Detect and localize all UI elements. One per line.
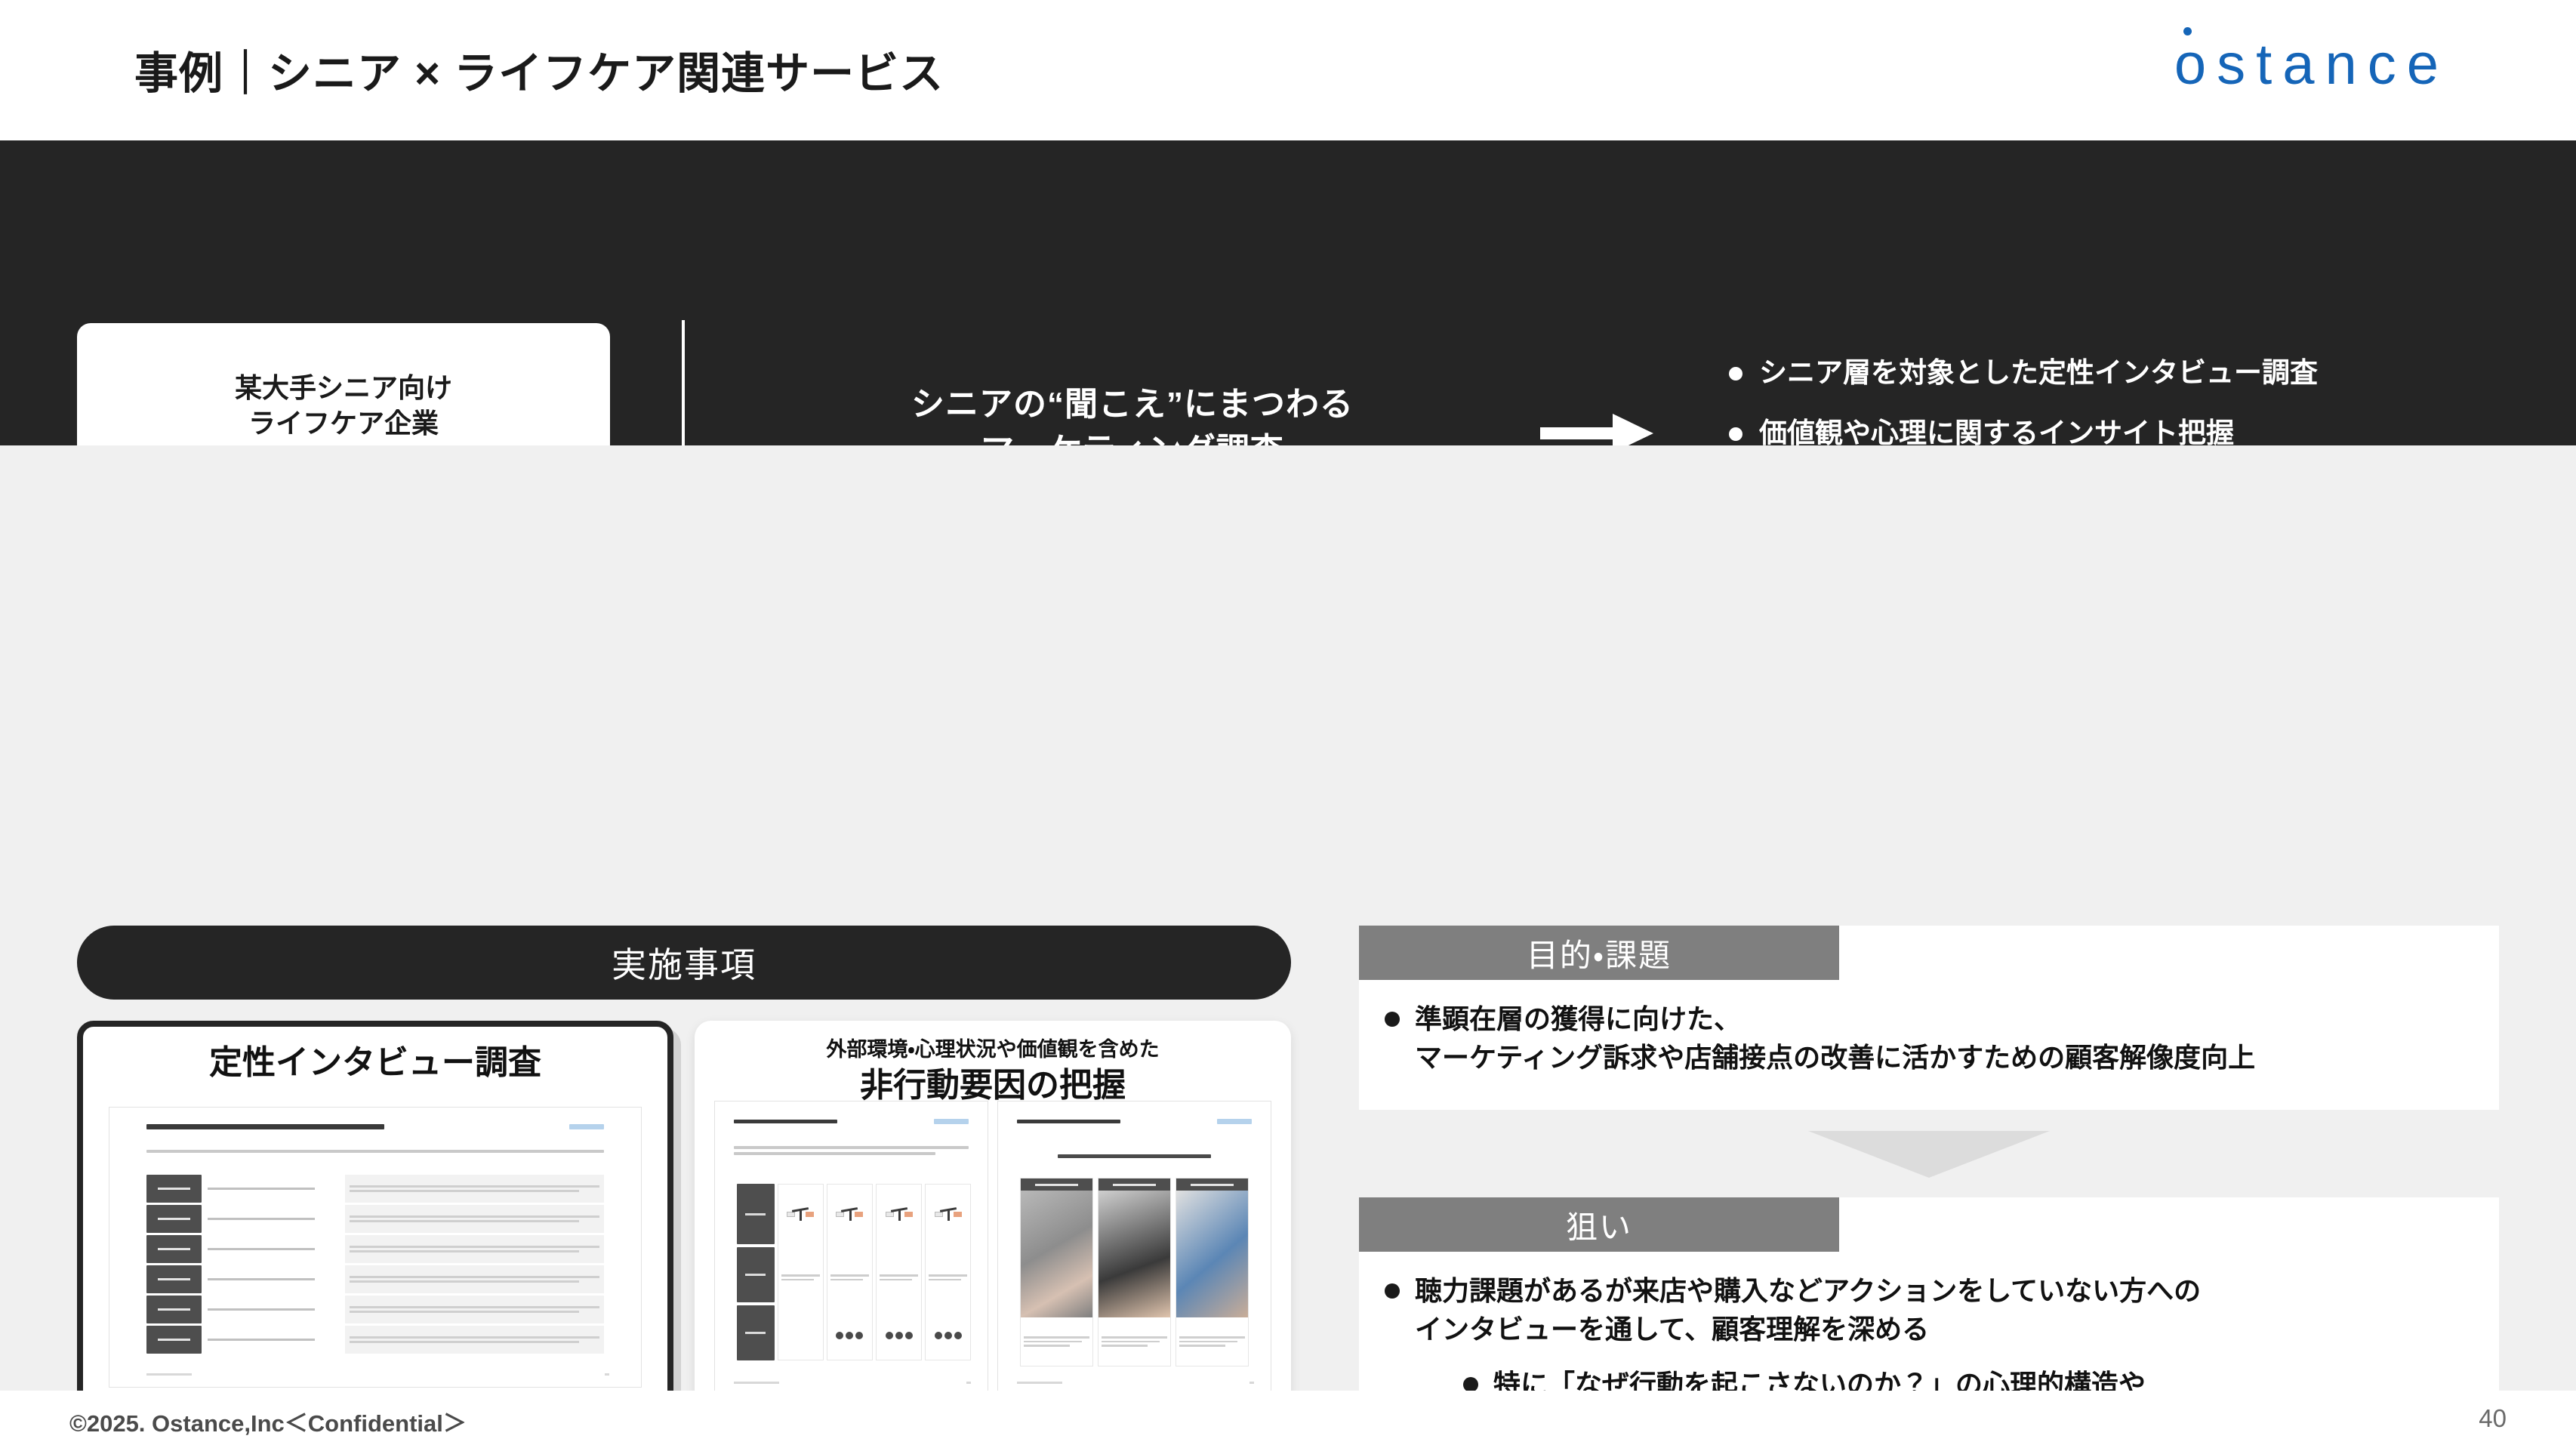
logo-text: ostance (2174, 32, 2449, 97)
page-title: 事例｜シニア × ライフケア関連サービス (134, 38, 944, 101)
card-title-main: 定性インタビュー調査 (83, 1043, 667, 1083)
company-line-2: ライフケア企業 (248, 406, 439, 441)
section-title-implementation: 実施事項 (77, 926, 1291, 1000)
slide-header: 事例｜シニア × ライフケア関連サービス ostance (0, 0, 2576, 140)
bullet-dot-icon (1385, 1283, 1400, 1299)
thumb-title-bar (146, 1124, 384, 1129)
bullet-item: 聴力課題があるが来店や購入などアクションをしていない方への インタビューを通して… (1385, 1271, 2473, 1348)
slide-body: 実施事項 定性インタビュー調査 (0, 445, 2576, 1391)
implementation-column: 実施事項 定性インタビュー調査 (77, 926, 1291, 1000)
slide-footer: ©2025. Ostance,Inc＜Confidential＞ 40 (0, 1391, 2576, 1445)
section-heading: 狙い (1359, 1197, 1839, 1252)
section-purpose: 目的・課題 準顕在層の獲得に向けた、 マーケティング訴求や店舗接点の改善に活かす… (1359, 926, 2499, 1110)
thumb-photo-panels (1020, 1178, 1249, 1366)
thumb-matrix (737, 1184, 971, 1360)
bullet-dot-icon (1385, 1012, 1400, 1027)
card-thumbnails (695, 1093, 1291, 1413)
company-line-1: 某大手シニア向け (235, 371, 452, 405)
slide-root: 事例｜シニア × ライフケア関連サービス ostance 某大手シニア向け ライ… (0, 0, 2576, 1445)
slide-thumbnail (997, 1101, 1271, 1397)
logo-dot-icon (2183, 27, 2192, 35)
theme-line-1: シニアの“聞こえ”にまつわる (755, 382, 1510, 428)
band-bullet-item: シニア層を対象とした定性インタビュー調査 (1729, 356, 2529, 390)
slide-thumbnail (109, 1107, 642, 1388)
bullet-label: 聴力課題があるが来店や購入などアクションをしていない方への インタビューを通して… (1415, 1271, 2201, 1348)
section-content: 準顕在層の獲得に向けた、 マーケティング訴求や店舗接点の改善に活かすための顧客解… (1359, 980, 2499, 1110)
card-thumbnails (83, 1099, 667, 1407)
page-number: 40 (2479, 1404, 2507, 1433)
implementation-card-grid: 定性インタビュー調査 (77, 1021, 1291, 1445)
card-title-sub: 外部環境・心理状況や価値観を含めた (695, 1037, 1291, 1061)
triangle-down-icon (1808, 1131, 2050, 1178)
thumb-logo (569, 1124, 604, 1129)
insights-column: 目的・課題 準顕在層の獲得に向けた、 マーケティング訴求や店舗接点の改善に活かす… (1359, 926, 2499, 1445)
bullet-dot-icon (1729, 427, 1742, 441)
copyright-text: ©2025. Ostance,Inc＜Confidential＞ (69, 1404, 467, 1438)
bullet-item: 準顕在層の獲得に向けた、 マーケティング訴求や店舗接点の改善に活かすための顧客解… (1385, 1000, 2473, 1077)
slide-thumbnail (714, 1101, 988, 1397)
band-bullet-label: シニア層を対象とした定性インタビュー調査 (1759, 356, 2318, 390)
section-separator (1359, 1110, 2499, 1197)
section-heading: 目的・課題 (1359, 926, 1839, 980)
overview-band: 某大手シニア向け ライフケア企業 B社 シニアの“聞こえ”にまつわる マーケティ… (0, 140, 2576, 445)
implementation-card[interactable]: 定性インタビュー調査 (77, 1021, 673, 1413)
bullet-dot-icon (1729, 367, 1742, 381)
brand-logo: ostance (2174, 36, 2449, 94)
thumb-table (146, 1175, 603, 1354)
implementation-card[interactable]: 外部環境・心理状況や価値観を含めた 非行動要因の把握 (695, 1021, 1291, 1413)
bullet-label: 準顕在層の獲得に向けた、 マーケティング訴求や店舗接点の改善に活かすための顧客解… (1415, 1000, 2255, 1077)
card-title: 定性インタビュー調査 (83, 1027, 667, 1083)
